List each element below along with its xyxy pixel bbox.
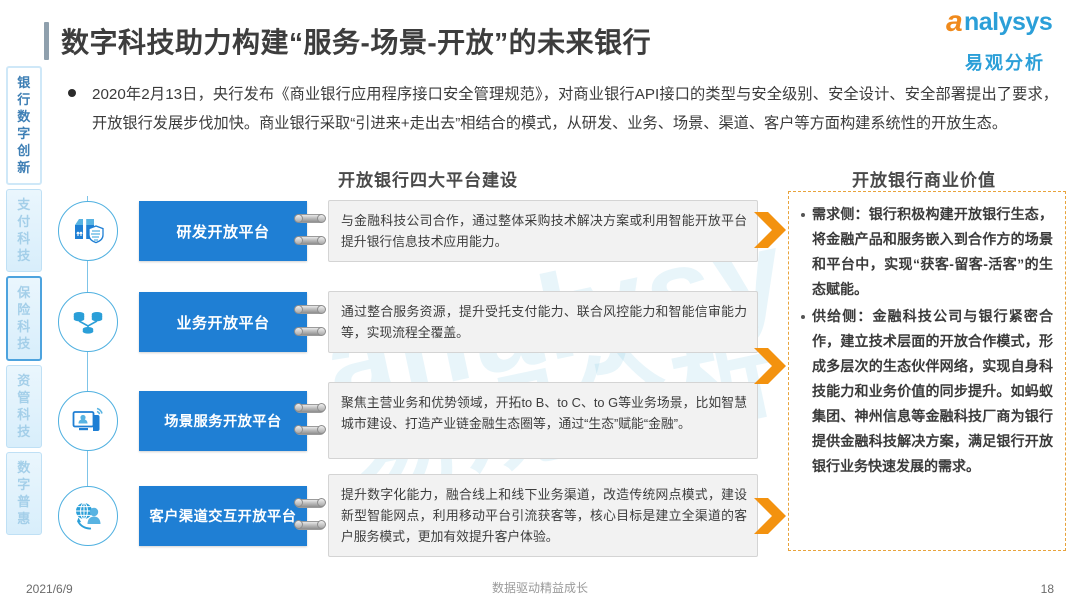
business-value-panel: 需求侧：银行积极构建开放银行生态，将金融产品和服务嵌入到合作方的场景和平台中，实… (788, 191, 1066, 551)
value-item-text: 供给侧：金融科技公司与银行紧密合作，建立技术层面的开放合作模式，形成多层次的生态… (812, 304, 1053, 479)
sidebar-tabs: 银 行 数 字 创 新 支 付 科 技 保 险 科 技 资 管 科 技 数 字 (6, 66, 46, 539)
value-item-text: 需求侧：银行积极构建开放银行生态，将金融产品和服务嵌入到合作方的场景和平台中，实… (812, 202, 1053, 302)
platform-row: 客户渠道交互开放平台 提升数字化能力，融合线上和线下业务渠道，改造传统网点模式，… (58, 474, 758, 557)
sidebar-char: 数 (8, 108, 40, 125)
sidebar-char: 银 (8, 74, 40, 91)
platform-name-button[interactable]: 研发开放平台 (139, 201, 307, 261)
logo-word-text: nalysys (964, 10, 1052, 35)
logo-cn-text: 易观分析 (946, 49, 1064, 75)
chain-link-bottom (295, 236, 325, 245)
page-title: 数字科技助力构建“服务-场景-开放”的未来银行 (44, 18, 651, 64)
chevron-right-icon (752, 345, 790, 387)
platform-name-button[interactable]: 场景服务开放平台 (139, 391, 307, 451)
sidebar-char: 支 (7, 196, 41, 213)
sidebar-char: 技 (7, 247, 41, 264)
chain-link-top (295, 499, 325, 508)
bullet-dot-icon (801, 315, 805, 319)
sidebar-char: 字 (8, 125, 40, 142)
slide-canvas: analysys 易观分析 数字科技助力构建“服务-场景-开放”的未来银行 a … (0, 0, 1080, 608)
footer-tagline: 数据驱动精益成长 (0, 579, 1080, 596)
sidebar-char: 新 (8, 159, 40, 176)
chain-link-top (295, 404, 325, 413)
platform-name-button[interactable]: 业务开放平台 (139, 292, 307, 352)
sidebar-char: 科 (7, 406, 41, 423)
package-shield-icon (58, 201, 118, 261)
analysys-logo: a nalysys 易观分析 (946, 12, 1064, 75)
sidebar-item-payment-tech[interactable]: 支 付 科 技 (6, 189, 42, 272)
sidebar-item-digital-inclusive-finance[interactable]: 数 字 普 惠 (6, 452, 42, 535)
sidebar-char: 管 (7, 389, 41, 406)
platform-description: 与金融科技公司合作，通过整体采购技术解决方案或利用智能开放平台提升银行信息技术应… (328, 200, 758, 262)
right-column-heading: 开放银行商业价值 (852, 166, 996, 191)
platform-name-button[interactable]: 客户渠道交互开放平台 (139, 486, 307, 546)
chain-link-top (295, 214, 325, 223)
sidebar-char: 行 (8, 91, 40, 108)
sidebar-char: 险 (8, 301, 40, 318)
sidebar-char: 科 (8, 318, 40, 335)
globe-user-icon (58, 486, 118, 546)
logo-wordmark: a nalysys (946, 12, 1064, 40)
platform-row: 场景服务开放平台 聚焦主营业务和优势领域，开拓to B、to C、to G等业务… (58, 382, 758, 459)
chain-link-icon (295, 208, 325, 254)
chain-link-icon (295, 299, 325, 345)
logo-a-mark: a (946, 7, 963, 37)
sidebar-char: 保 (8, 284, 40, 301)
sidebar-char: 创 (8, 142, 40, 159)
sidebar-char: 技 (7, 423, 41, 440)
sidebar-char: 资 (7, 372, 41, 389)
sidebar-char: 惠 (7, 510, 41, 527)
sidebar-item-asset-management-tech[interactable]: 资 管 科 技 (6, 365, 42, 448)
sidebar-char: 付 (7, 213, 41, 230)
chain-link-icon (295, 398, 325, 444)
sidebar-char: 数 (7, 459, 41, 476)
value-list-item: 需求侧：银行积极构建开放银行生态，将金融产品和服务嵌入到合作方的场景和平台中，实… (799, 202, 1053, 302)
monitor-user-icon (58, 391, 118, 451)
sidebar-char: 字 (7, 476, 41, 493)
chain-link-top (295, 305, 325, 314)
sidebar-char: 普 (7, 493, 41, 510)
chain-link-bottom (295, 521, 325, 530)
database-stack-icon (58, 292, 118, 352)
sidebar-item-bank-digital-innovation[interactable]: 银 行 数 字 创 新 (6, 66, 42, 185)
chain-link-bottom (295, 327, 325, 336)
platform-description: 提升数字化能力，融合线上和线下业务渠道，改造传统网点模式，建设新型智能网点，利用… (328, 474, 758, 557)
title-text: 数字科技助力构建“服务-场景-开放”的未来银行 (61, 21, 651, 61)
platform-row: 研发开放平台 与金融科技公司合作，通过整体采购技术解决方案或利用智能开放平台提升… (58, 200, 758, 262)
value-list-item: 供给侧：金融科技公司与银行紧密合作，建立技术层面的开放合作模式，形成多层次的生态… (799, 304, 1053, 479)
chain-link-icon (295, 493, 325, 539)
intro-paragraph: 2020年2月13日，央行发布《商业银行应用程序接口安全管理规范》，对商业银行A… (68, 80, 1058, 138)
chevron-right-icon (752, 209, 790, 251)
platform-row: 业务开放平台 通过整合服务资源，提升受托支付能力、联合风控能力和智能信审能力等，… (58, 291, 758, 353)
title-rule (44, 22, 49, 60)
bullet-dot-icon (801, 213, 805, 217)
platform-description: 通过整合服务资源，提升受托支付能力、联合风控能力和智能信审能力等，实现流程全覆盖… (328, 291, 758, 353)
sidebar-item-insurance-tech[interactable]: 保 险 科 技 (6, 276, 42, 361)
platform-description: 聚焦主营业务和优势领域，开拓to B、to C、to G等业务场景，比如智慧城市… (328, 382, 758, 459)
intro-text: 2020年2月13日，央行发布《商业银行应用程序接口安全管理规范》，对商业银行A… (92, 80, 1058, 138)
chevron-right-icon (752, 495, 790, 537)
chain-link-bottom (295, 426, 325, 435)
sidebar-char: 技 (8, 335, 40, 352)
left-column-heading: 开放银行四大平台建设 (338, 166, 518, 191)
footer-page-number: 18 (1041, 582, 1054, 596)
bullet-dot-icon (68, 89, 76, 97)
sidebar-char: 科 (7, 230, 41, 247)
